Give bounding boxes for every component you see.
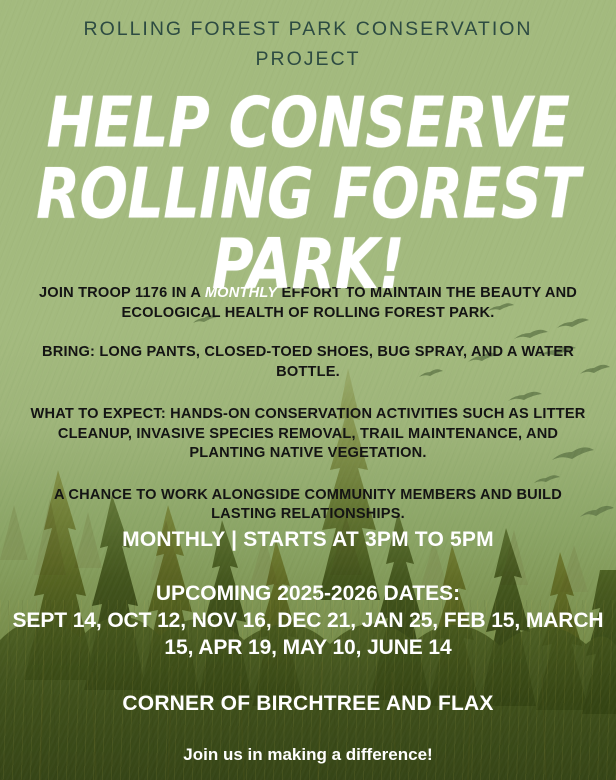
headline-line-1: HELP CONSERVE — [0, 88, 616, 159]
location-line: CORNER OF BIRCHTREE AND FLAX — [0, 690, 616, 717]
community-paragraph: A CHANCE TO WORK ALONGSIDE COMMUNITY MEM… — [0, 486, 616, 525]
headline-line-2: ROLLING FOREST PARK! — [0, 159, 616, 301]
dates-list: SEPT 14, OCT 12, NOV 16, DEC 21, JAN 25,… — [0, 607, 616, 661]
dates-heading: UPCOMING 2025-2026 DATES: — [0, 580, 616, 607]
expectations-paragraph: WHAT TO EXPECT: HANDS-ON CONSERVATION AC… — [0, 405, 616, 464]
conservation-poster: ROLLING FOREST PARK CONSERVATION PROJECT… — [0, 0, 616, 780]
bring-paragraph: BRING: LONG PANTS, CLOSED-TOED SHOES, BU… — [0, 343, 616, 382]
headline: HELP CONSERVE ROLLING FOREST PARK! — [0, 88, 616, 300]
schedule-line: MONTHLY | STARTS AT 3PM TO 5PM — [0, 527, 616, 553]
project-title: ROLLING FOREST PARK CONSERVATION PROJECT — [0, 0, 616, 74]
poster-content: ROLLING FOREST PARK CONSERVATION PROJECT… — [0, 0, 616, 780]
call-to-action: Join us in making a difference! — [0, 744, 616, 766]
